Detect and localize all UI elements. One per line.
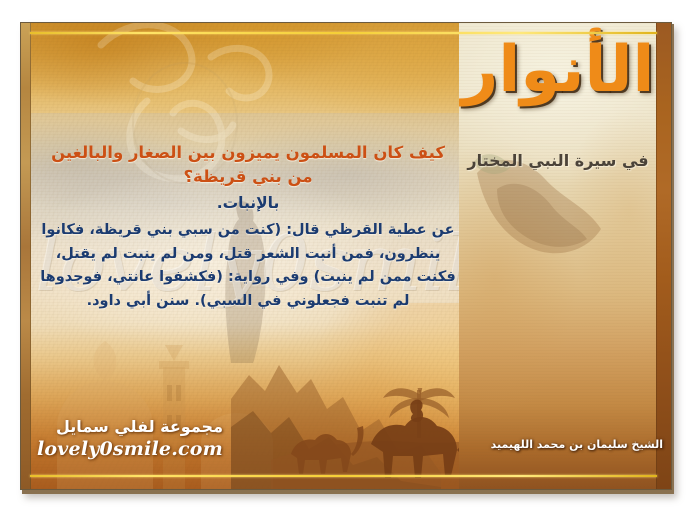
card-frame: lovely0smile.com الأنوار في سيرة النبي ا… xyxy=(0,0,692,512)
gold-rule-bottom xyxy=(30,475,657,477)
artwork-canvas: lovely0smile.com الأنوار في سيرة النبي ا… xyxy=(20,22,672,490)
text-content-column: كيف كان المسلمون يميزون بين الصغار والبا… xyxy=(33,141,463,313)
gold-rule-top xyxy=(30,32,657,34)
title-panel: الأنوار في سيرة النبي المختار xyxy=(459,23,657,489)
question-text: كيف كان المسلمون يميزون بين الصغار والبا… xyxy=(33,141,463,190)
brand-arabic-name: مجموعة لفلي سمايل xyxy=(37,417,223,437)
answer-short-text: بالإنبات. xyxy=(39,192,457,216)
narration-text: عن عطية القرظي قال: (كنت من سبي بني قريظ… xyxy=(39,219,457,313)
brand-url[interactable]: lovely0smile.com xyxy=(37,438,223,461)
answer-block: بالإنبات. عن عطية القرظي قال: (كنت من سب… xyxy=(33,192,463,313)
brand-block: مجموعة لفلي سمايل lovely0smile.com xyxy=(37,417,223,461)
author-name: الشيخ سليمان بن محمد اللهيميد xyxy=(473,438,663,451)
book-title: الأنوار xyxy=(459,37,657,104)
book-subtitle: في سيرة النبي المختار xyxy=(459,151,657,170)
right-edge-band xyxy=(656,23,671,489)
left-edge-band xyxy=(21,23,31,489)
